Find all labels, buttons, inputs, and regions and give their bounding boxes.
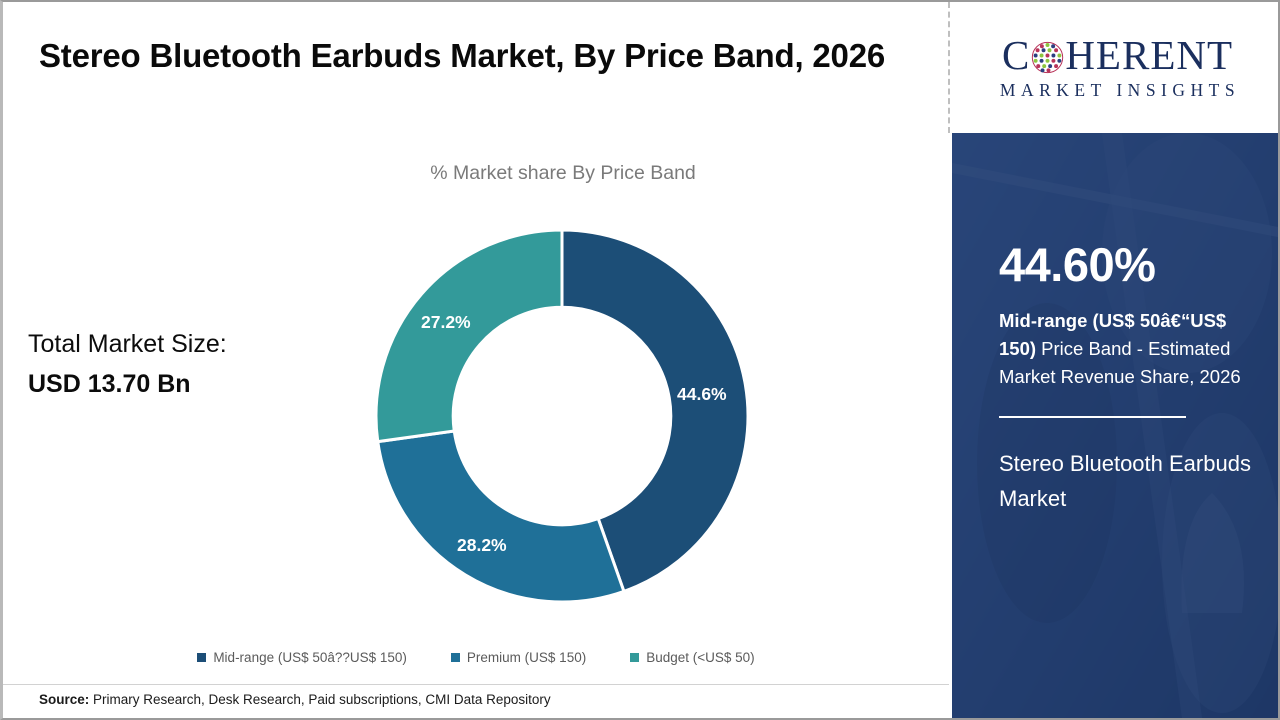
panel-horizontal-rule [999,416,1186,418]
chart-subtitle: % Market share By Price Band [193,162,933,185]
page-title: Stereo Bluetooth Earbuds Market, By Pric… [39,32,919,81]
logo-text-herent: HERENT [1065,35,1233,76]
right-panel: C HERENT [952,2,1280,718]
logo-letter-c: C [1002,35,1030,76]
legend-item[interactable]: Budget (<US$ 50) [630,650,754,665]
stat-description: Mid-range (US$ 50â€“US$ 150) Price Band … [999,307,1259,391]
legend-item[interactable]: Premium (US$ 150) [451,650,586,665]
donut-slice [378,431,624,602]
stat-description-rest: Price Band - Estimated Market Revenue Sh… [999,338,1241,387]
source-label: Source: [39,692,89,707]
donut-chart-svg [374,228,750,604]
legend-label: Premium (US$ 150) [467,650,586,665]
main-content-area: Stereo Bluetooth Earbuds Market, By Pric… [3,2,949,718]
slide-canvas: Stereo Bluetooth Earbuds Market, By Pric… [0,0,1280,720]
chart-legend: Mid-range (US$ 50â??US$ 150)Premium (US$… [3,650,949,665]
legend-label: Budget (<US$ 50) [646,650,754,665]
legend-label: Mid-range (US$ 50â??US$ 150) [213,650,407,665]
logo-subtitle: MARKET INSIGHTS [995,82,1240,100]
globe-dots-icon [1031,40,1064,73]
source-text: Primary Research, Desk Research, Paid su… [89,692,550,707]
slice-label-premium: 28.2% [457,535,507,556]
donut-slice [376,230,562,442]
total-market-size-value: USD 13.70 Bn [28,364,318,404]
stat-panel-content: 44.60% Mid-range (US$ 50â€“US$ 150) Pric… [999,133,1259,516]
stat-value: 44.60% [999,241,1259,288]
legend-swatch-icon [197,653,206,662]
donut-chart: 44.6% 28.2% 27.2% [374,228,750,604]
stat-panel: 44.60% Mid-range (US$ 50â€“US$ 150) Pric… [952,133,1280,718]
donut-slices [376,230,748,602]
total-market-size-label: Total Market Size: [28,324,318,364]
vertical-dashed-divider [948,2,950,133]
logo-wordmark: C HERENT [1002,35,1233,76]
legend-swatch-icon [451,653,460,662]
panel-market-name: Stereo Bluetooth Earbuds Market [999,447,1259,516]
brand-logo: C HERENT [952,2,1280,133]
total-market-size: Total Market Size: USD 13.70 Bn [28,324,318,404]
legend-swatch-icon [630,653,639,662]
source-divider [3,684,949,685]
source-line: Source: Primary Research, Desk Research,… [39,692,551,707]
legend-item[interactable]: Mid-range (US$ 50â??US$ 150) [197,650,407,665]
slice-label-mid-range: 44.6% [677,384,727,405]
slice-label-budget: 27.2% [421,312,471,333]
